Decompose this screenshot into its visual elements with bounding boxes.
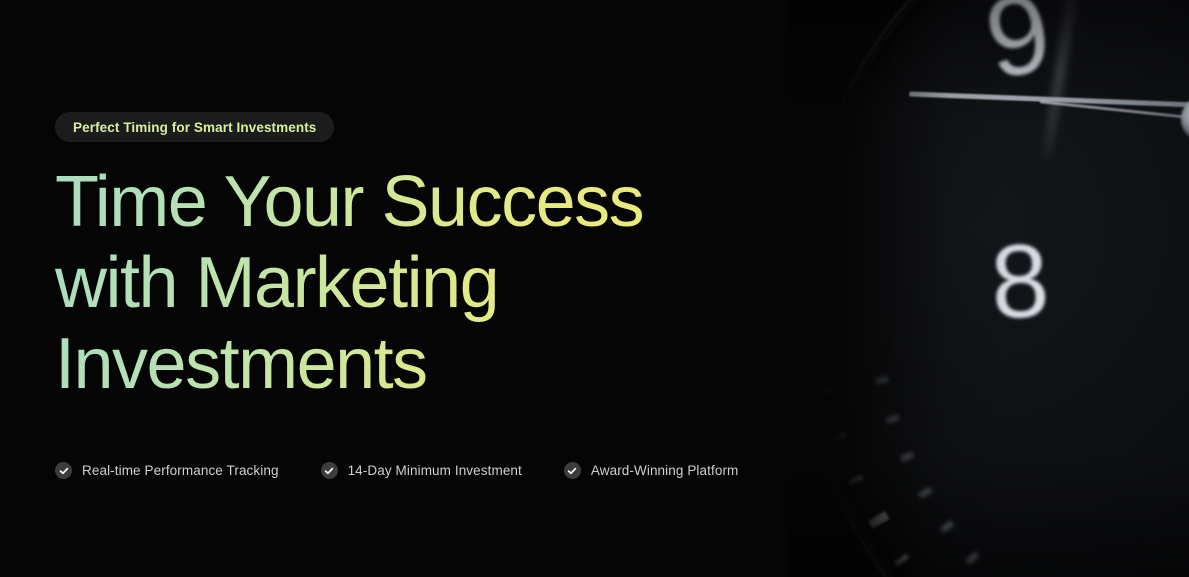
- feature-item-14-day-minimum-investment: 14-Day Minimum Investment: [321, 462, 522, 479]
- check-circle-icon: [321, 462, 338, 479]
- feature-label: Real-time Performance Tracking: [82, 463, 279, 478]
- check-circle-icon: [55, 462, 72, 479]
- feature-label: 14-Day Minimum Investment: [348, 463, 522, 478]
- page-title: Time Your Success with Marketing Investm…: [55, 162, 643, 405]
- eyebrow-badge: Perfect Timing for Smart Investments: [55, 112, 334, 142]
- feature-item-award-winning-platform: Award-Winning Platform: [564, 462, 739, 479]
- eyebrow-badge-label: Perfect Timing for Smart Investments: [73, 120, 316, 135]
- headline-line-1: Time Your Success: [55, 162, 643, 243]
- feature-label: Award-Winning Platform: [591, 463, 739, 478]
- clock-photo: 9 8: [789, 0, 1189, 577]
- feature-list: Real-time Performance Tracking 14-Day Mi…: [55, 462, 738, 479]
- check-circle-icon: [564, 462, 581, 479]
- headline-line-3: Investments: [55, 324, 643, 405]
- hero-content: Perfect Timing for Smart Investments Tim…: [55, 0, 815, 577]
- clock-bezel-inner: [805, 0, 1189, 577]
- hero-section: 9 8 Perfect Timing for Smart Investments…: [0, 0, 1189, 577]
- feature-item-real-time-performance-tracking: Real-time Performance Tracking: [55, 462, 279, 479]
- headline-line-2: with Marketing: [55, 243, 643, 324]
